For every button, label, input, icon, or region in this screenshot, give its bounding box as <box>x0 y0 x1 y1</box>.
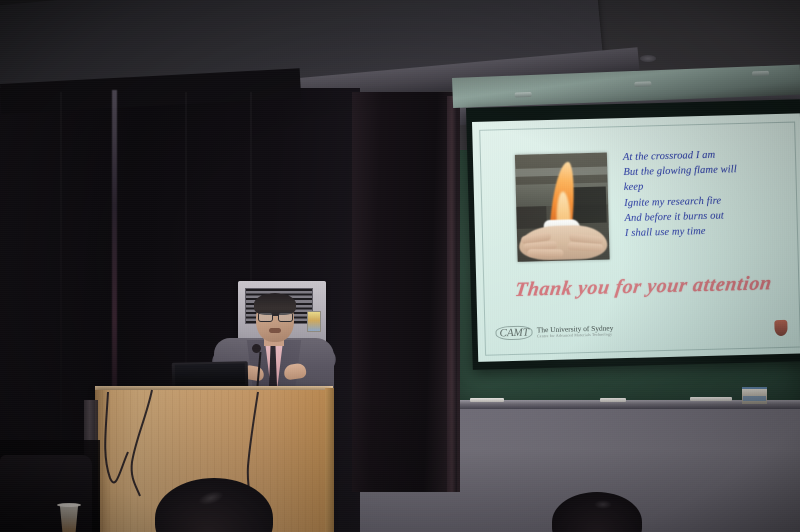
curtain-right-edge <box>447 96 457 492</box>
chalk-piece <box>600 398 626 402</box>
audience-head-highlight <box>594 500 612 509</box>
laptop-screen <box>175 363 245 385</box>
chalk-piece <box>690 397 732 401</box>
camt-logo: CAMT The University of Sydney Centre for… <box>495 323 613 340</box>
drink-cup-rim <box>57 503 81 507</box>
lecture-hall-photo: At the crossroad I am But the glowing fl… <box>0 0 800 532</box>
curtain-light-gap <box>112 90 117 420</box>
downlight-icon <box>640 55 656 62</box>
podium-right-edge <box>325 388 334 532</box>
chalk-box <box>742 387 767 404</box>
glasses-icon <box>258 312 292 320</box>
speaker-mouth <box>269 328 281 333</box>
centre-name: Centre for Advanced Materials Technology <box>537 332 614 339</box>
slide-photo-flame <box>515 152 610 261</box>
university-crest-icon <box>774 320 787 336</box>
slide-poem: At the crossroad I am But the glowing fl… <box>623 146 795 242</box>
microphone-icon <box>252 344 261 353</box>
projection-screen: At the crossroad I am But the glowing fl… <box>472 113 800 362</box>
chalk-piece <box>470 398 504 402</box>
audience-seat <box>0 455 92 532</box>
stage-curtain-right <box>352 92 460 492</box>
camt-logo-mark: CAMT <box>495 325 533 340</box>
